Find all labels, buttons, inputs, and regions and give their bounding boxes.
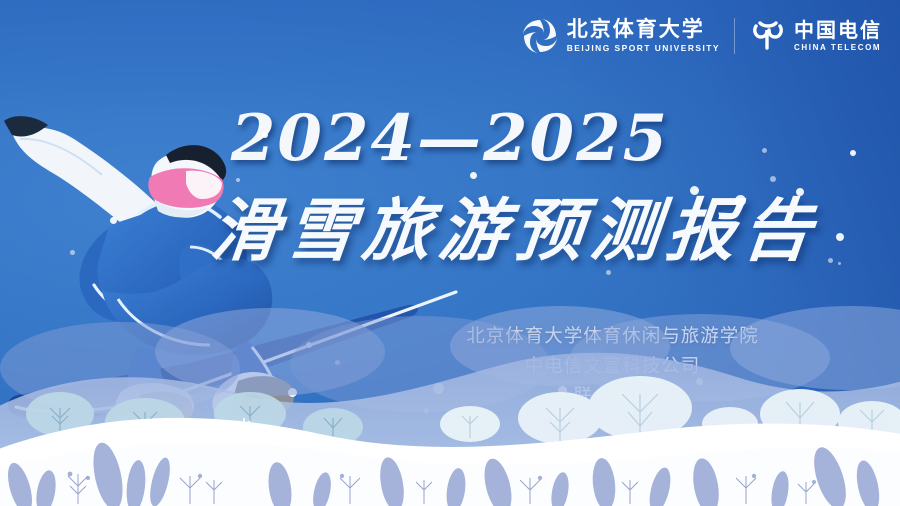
university-name-cn: 北京体育大学: [567, 19, 720, 40]
logo-divider: [734, 18, 735, 54]
ski-report-poster: 北京体育大学 BEIJING SPORT UNIVERSITY 中国电信 CHI…: [0, 0, 900, 506]
china-telecom-logo-icon: [749, 17, 787, 55]
snow-scene: [0, 296, 900, 506]
telecom-logo-text: 中国电信 CHINA TELECOM: [794, 20, 882, 52]
university-logo-text: 北京体育大学 BEIJING SPORT UNIVERSITY: [567, 19, 720, 52]
china-telecom-logo: 中国电信 CHINA TELECOM: [749, 17, 882, 55]
telecom-name-cn: 中国电信: [794, 20, 882, 40]
telecom-name-en: CHINA TELECOM: [794, 44, 882, 52]
year-range-title: 2024—2025: [215, 104, 685, 174]
beijing-sport-university-logo: 北京体育大学 BEIJING SPORT UNIVERSITY: [520, 16, 720, 56]
swirl-logo-icon: [520, 16, 560, 56]
logo-bar: 北京体育大学 BEIJING SPORT UNIVERSITY 中国电信 CHI…: [520, 16, 882, 56]
university-name-en: BEIJING SPORT UNIVERSITY: [567, 44, 720, 52]
